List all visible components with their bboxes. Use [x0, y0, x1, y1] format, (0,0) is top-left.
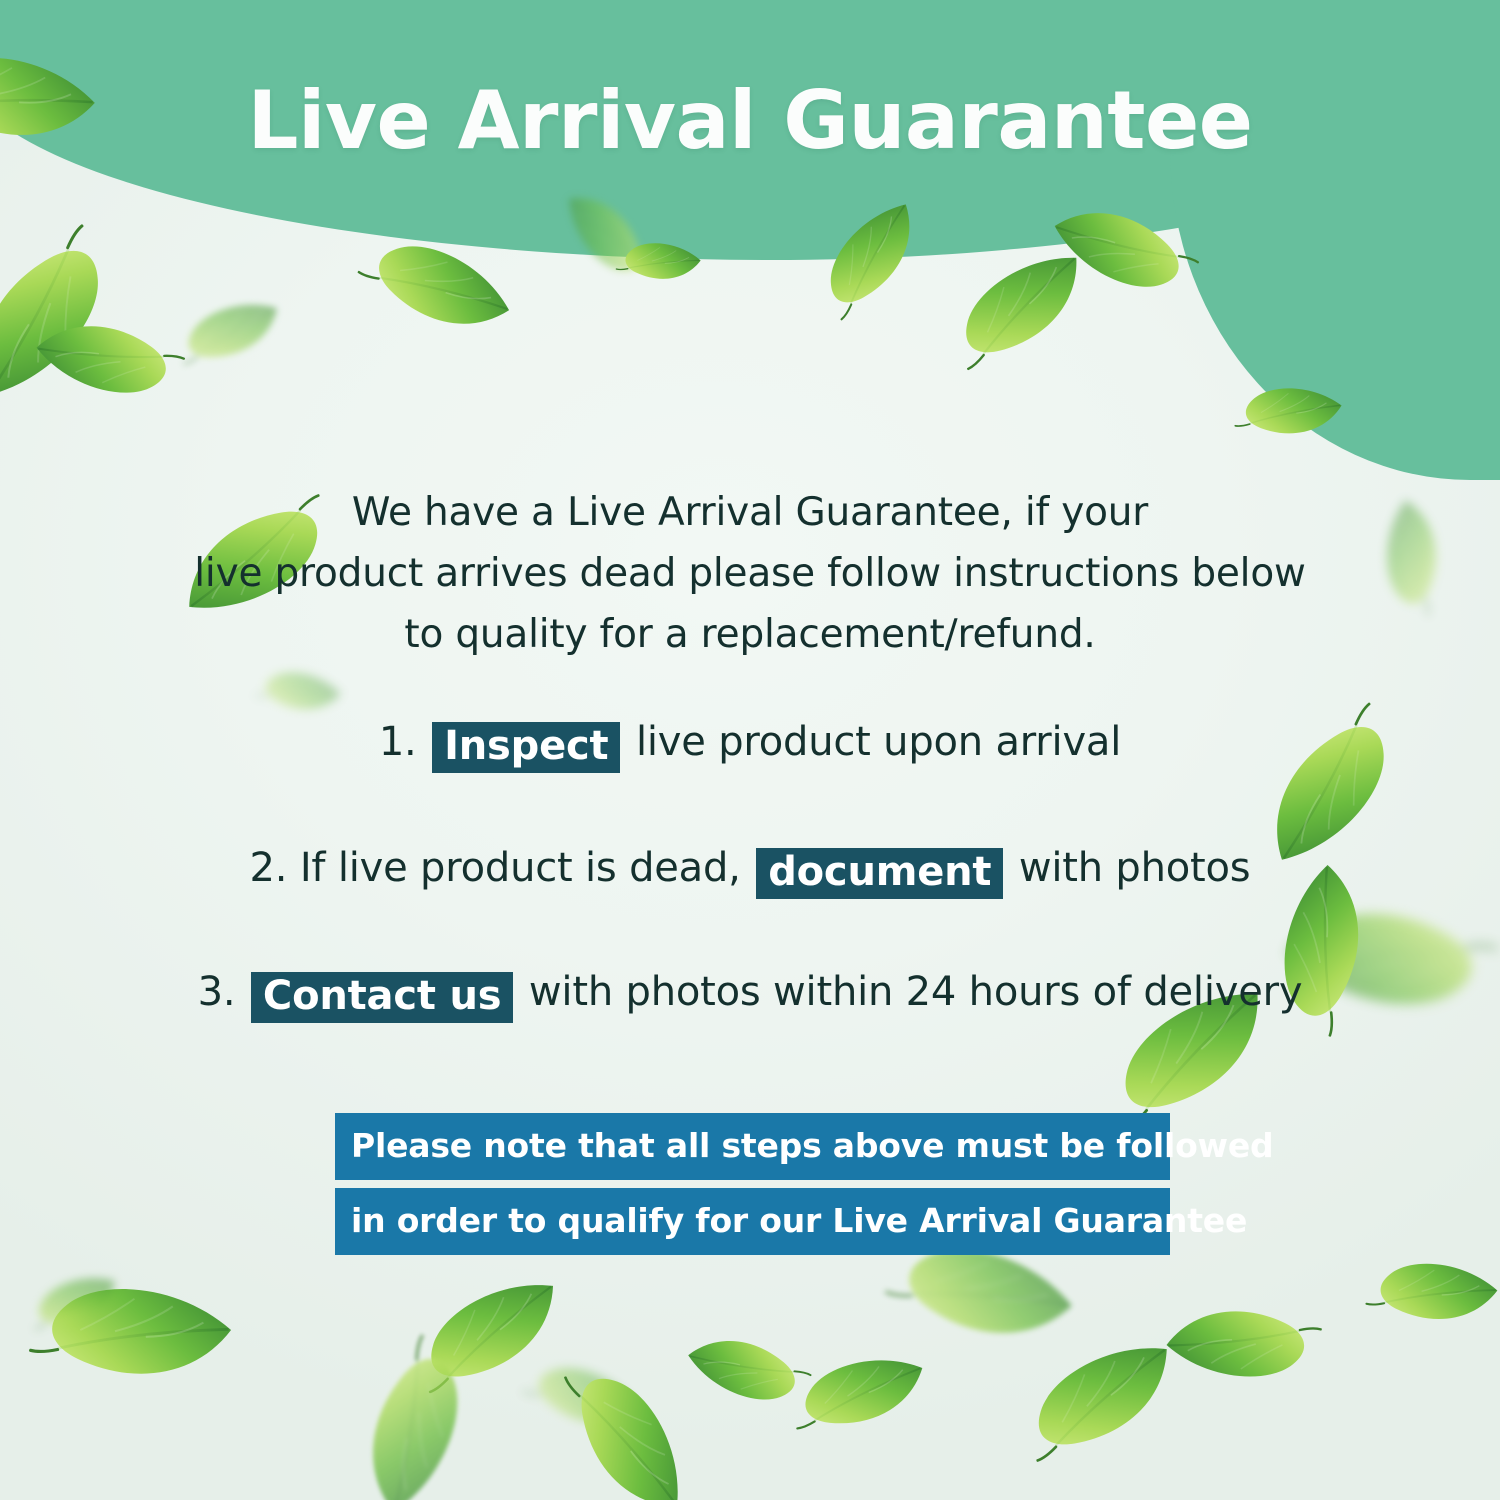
live-arrival-guarantee-poster: Live Arrival Guarantee We have a Live Ar…: [0, 0, 1500, 1500]
step-1-number: 1.: [379, 719, 417, 765]
step-3-text: with photos within 24 hours of delivery: [529, 969, 1302, 1015]
step-2-text-before: If live product is dead,: [300, 845, 741, 891]
step-1-highlight: Inspect: [432, 722, 620, 773]
note-banner-2: in order to qualify for our Live Arrival…: [335, 1188, 1170, 1255]
main-content: We have a Live Arrival Guarantee, if you…: [0, 0, 1500, 1500]
step-1-text: live product upon arrival: [636, 719, 1121, 765]
step-2-text-after: with photos: [1019, 845, 1251, 891]
intro-paragraph: We have a Live Arrival Guarantee, if you…: [150, 482, 1350, 665]
step-item-2: 2. If live product is dead, document wit…: [0, 844, 1500, 895]
intro-line-3: to quality for a replacement/refund.: [404, 612, 1095, 657]
intro-line-2: live product arrives dead please follow …: [194, 551, 1305, 596]
step-2-highlight: document: [756, 848, 1003, 899]
intro-line-1: We have a Live Arrival Guarantee, if you…: [352, 490, 1148, 535]
step-3-number: 3.: [198, 969, 236, 1015]
step-2-number: 2.: [250, 845, 288, 891]
note-banner-1: Please note that all steps above must be…: [335, 1113, 1170, 1180]
step-item-1: 1. Inspect live product upon arrival: [0, 718, 1500, 769]
step-item-3: 3. Contact us with photos within 24 hour…: [0, 968, 1500, 1019]
step-3-highlight: Contact us: [251, 972, 513, 1023]
